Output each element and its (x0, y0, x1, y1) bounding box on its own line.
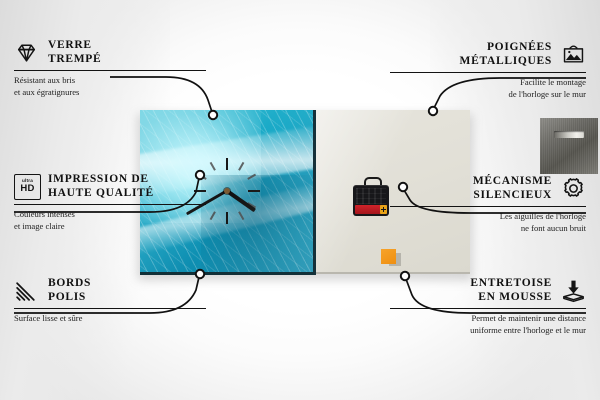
metal-hanging-bracket (540, 118, 598, 174)
feature-entretoise-en-mousse: ENTRETOISE EN MOUSSE Permet de maintenir… (390, 276, 586, 336)
feature-title-line1: BORDS (48, 276, 91, 290)
gear-icon (561, 176, 586, 201)
feature-title-line1: MÉCANISME (473, 174, 552, 188)
picture-hanger-icon (561, 42, 586, 67)
diamond-icon (14, 40, 39, 65)
feature-description: Surface lisse et sûre (14, 313, 206, 325)
feature-divider (390, 308, 586, 309)
polished-edge-icon (14, 278, 39, 303)
feature-title-line2: EN MOUSSE (470, 290, 552, 304)
feature-desc-line1: Couleurs intenses (14, 209, 206, 221)
feature-desc-line2: et image claire (14, 221, 206, 233)
feature-title-line2: TREMPÉ (48, 52, 101, 66)
feature-divider (14, 204, 206, 205)
feature-header: MÉCANISME SILENCIEUX (390, 174, 586, 202)
ultra-hd-icon: ultra HD (14, 174, 39, 199)
feature-title-line1: ENTRETOISE (470, 276, 552, 290)
foam-spacer-icon (561, 278, 586, 303)
feature-desc-line1: Permet de maintenir une distance (390, 313, 586, 325)
mechanism-texture (356, 188, 386, 204)
feature-header: VERRE TREMPÉ (14, 38, 206, 66)
feature-header: POIGNÉES MÉTALLIQUES (390, 40, 586, 68)
feature-desc-line1: Résistant aux bris (14, 75, 206, 87)
feature-title-line2: POLIS (48, 290, 91, 304)
feature-title: BORDS POLIS (48, 276, 91, 304)
feature-description: Les aiguilles de l'horloge ne font aucun… (390, 211, 586, 234)
feature-title-line2: MÉTALLIQUES (460, 54, 552, 68)
feature-mecanisme-silencieux: MÉCANISME SILENCIEUX Les aiguilles de l'… (390, 174, 586, 234)
ultra-hd-icon-main-text: HD (20, 184, 34, 194)
feature-divider (14, 308, 206, 309)
feature-divider (390, 72, 586, 73)
feature-title-line1: POIGNÉES (460, 40, 552, 54)
feature-desc-line2: et aux égratignures (14, 87, 206, 99)
feature-impression-haute-qualite: ultra HD IMPRESSION DE HAUTE QUALITÉ Cou… (14, 172, 206, 232)
feature-desc-line1: Surface lisse et sûre (14, 313, 206, 325)
feature-divider (14, 70, 206, 71)
feature-desc-line1: Facilite le montage (390, 77, 586, 89)
foam-spacer (381, 249, 396, 264)
infographic-canvas: VERRE TREMPÉ Résistant aux bris et aux é… (0, 0, 600, 400)
feature-bords-polis: BORDS POLIS Surface lisse et sûre (14, 276, 206, 325)
feature-divider (390, 206, 586, 207)
battery-plus-terminal (380, 205, 387, 214)
bracket-keyhole-slot (554, 131, 584, 138)
clock-mechanism (353, 182, 389, 216)
feature-desc-line2: uniforme entre l'horloge et le mur (390, 325, 586, 337)
feature-title: POIGNÉES MÉTALLIQUES (460, 40, 552, 68)
feature-desc-line1: Les aiguilles de l'horloge (390, 211, 586, 223)
feature-description: Permet de maintenir une distance uniform… (390, 313, 586, 336)
feature-verre-trempe: VERRE TREMPÉ Résistant aux bris et aux é… (14, 38, 206, 98)
feature-desc-line2: ne font aucun bruit (390, 223, 586, 235)
feature-title: VERRE TREMPÉ (48, 38, 101, 66)
feature-header: ultra HD IMPRESSION DE HAUTE QUALITÉ (14, 172, 206, 200)
bracket-texture (540, 118, 598, 174)
feature-title: MÉCANISME SILENCIEUX (473, 174, 552, 202)
feature-poignees-metalliques: POIGNÉES MÉTALLIQUES Facilite le montage… (390, 40, 586, 100)
feature-desc-line2: de l'horloge sur le mur (390, 89, 586, 101)
feature-title-line1: IMPRESSION DE (48, 172, 154, 186)
feature-title: IMPRESSION DE HAUTE QUALITÉ (48, 172, 154, 200)
feature-title-line1: VERRE (48, 38, 101, 52)
feature-title-line2: HAUTE QUALITÉ (48, 186, 154, 200)
feature-description: Résistant aux bris et aux égratignures (14, 75, 206, 98)
feature-header: ENTRETOISE EN MOUSSE (390, 276, 586, 304)
mechanism-housing (353, 185, 389, 216)
feature-title-line2: SILENCIEUX (473, 188, 552, 202)
feature-description: Couleurs intenses et image claire (14, 209, 206, 232)
feature-header: BORDS POLIS (14, 276, 206, 304)
feature-description: Facilite le montage de l'horloge sur le … (390, 77, 586, 100)
feature-title: ENTRETOISE EN MOUSSE (470, 276, 552, 304)
